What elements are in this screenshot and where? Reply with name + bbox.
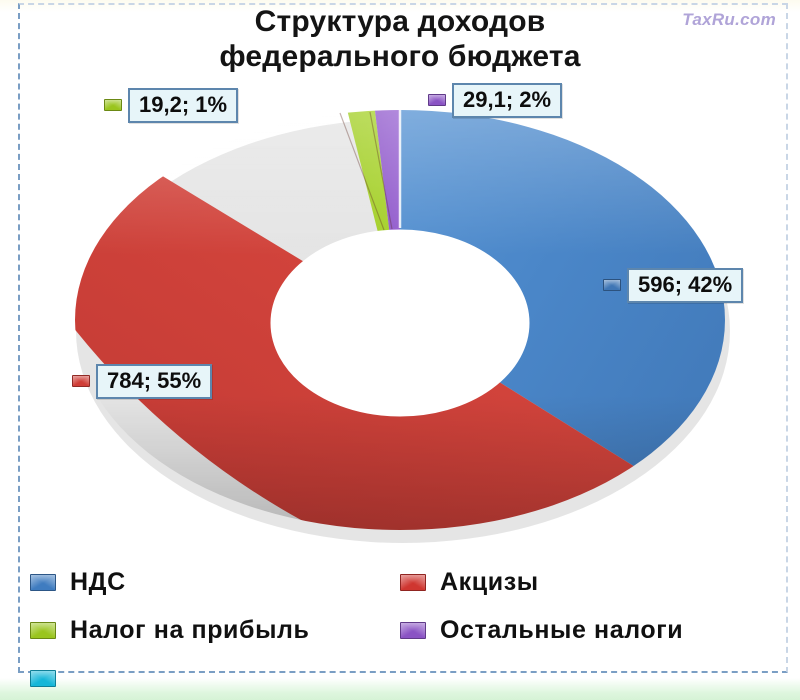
purple-key-icon	[428, 94, 446, 106]
chart-title: Структура доходов федерального бюджета	[120, 4, 680, 75]
data-label-text-red: 784; 55%	[96, 364, 212, 399]
data-label-ostalnye-nalogi[interactable]: 29,1; 2%	[428, 83, 562, 118]
chart-canvas: Структура доходов федерального бюджета T…	[0, 0, 800, 700]
data-label-akcizy[interactable]: 784; 55%	[72, 364, 212, 399]
legend-label-akcizy: Акцизы	[440, 568, 539, 597]
legend-item-akcizy[interactable]: Акцизы	[400, 568, 770, 597]
legend-label-ostalnye-nalogi: Остальные налоги	[440, 616, 683, 645]
data-label-nalog-na-pribyl[interactable]: 19,2; 1%	[104, 88, 238, 123]
donut-chart	[40, 95, 760, 545]
legend-item-unlabeled[interactable]	[30, 670, 400, 687]
data-label-text-purple: 29,1; 2%	[452, 83, 562, 118]
legend-key-blue-icon	[30, 574, 56, 591]
legend-label-nalog-na-pribyl: Налог на прибыль	[70, 616, 309, 645]
legend-row-3	[30, 654, 770, 700]
legend-key-cyan-icon	[30, 670, 56, 687]
donut-svg	[40, 95, 760, 545]
green-key-icon	[104, 99, 122, 111]
legend-item-nalog-na-pribyl[interactable]: Налог на прибыль	[30, 616, 400, 645]
blue-key-icon	[603, 279, 621, 291]
legend-label-nds: НДС	[70, 568, 126, 597]
legend-item-nds[interactable]: НДС	[30, 568, 400, 597]
legend-row-1: НДС Акцизы	[30, 558, 770, 606]
chart-legend: НДС Акцизы Налог на прибыль Остальные на…	[30, 558, 770, 700]
legend-key-green-icon	[30, 622, 56, 639]
red-key-icon	[72, 375, 90, 387]
legend-key-red-icon	[400, 574, 426, 591]
legend-item-ostalnye-nalogi[interactable]: Остальные налоги	[400, 616, 770, 645]
watermark-taxru: TaxRu.com	[682, 10, 776, 30]
data-label-text-green: 19,2; 1%	[128, 88, 238, 123]
legend-key-purple-icon	[400, 622, 426, 639]
legend-row-2: Налог на прибыль Остальные налоги	[30, 606, 770, 654]
data-label-text-blue: 596; 42%	[627, 268, 743, 303]
data-label-nds[interactable]: 596; 42%	[603, 268, 743, 303]
